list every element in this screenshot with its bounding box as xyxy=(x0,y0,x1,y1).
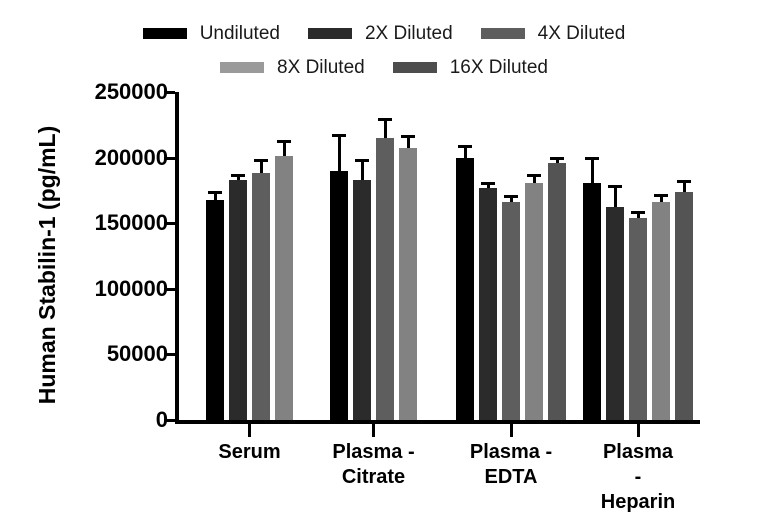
error-bar xyxy=(237,177,240,180)
error-bar-cap xyxy=(254,159,268,162)
error-bar-cap xyxy=(608,185,622,188)
x-axis-group-label: Plasma - Heparin xyxy=(601,440,675,515)
bar xyxy=(456,158,474,420)
y-axis-tick-label: 200000 xyxy=(95,147,168,169)
error-bar-cap xyxy=(277,140,291,143)
error-bar-cap xyxy=(231,174,245,177)
x-axis-group-label: Plasma - EDTA xyxy=(470,440,552,490)
error-bar-cap xyxy=(631,211,645,214)
error-bar-cap xyxy=(458,145,472,148)
legend-label: 8X Diluted xyxy=(277,58,365,77)
bar xyxy=(330,171,348,420)
legend-label: 16X Diluted xyxy=(450,58,548,77)
error-bar xyxy=(591,160,594,182)
error-bar xyxy=(407,138,410,148)
legend-item[interactable]: 16X Diluted xyxy=(393,58,548,77)
error-bar xyxy=(510,198,513,202)
error-bar xyxy=(487,185,490,188)
plot-area: 050000100000150000200000250000 SerumPlas… xyxy=(175,92,700,420)
error-bar-cap xyxy=(332,134,346,137)
error-bar xyxy=(260,162,263,174)
legend-swatch-icon xyxy=(220,62,264,73)
bar xyxy=(376,138,394,420)
bar xyxy=(652,202,670,420)
error-bar-cap xyxy=(208,191,222,194)
error-bar xyxy=(464,148,467,157)
error-bar xyxy=(214,194,217,199)
error-bar xyxy=(614,188,617,208)
x-axis-group-label: Plasma - Citrate xyxy=(332,440,414,490)
bar xyxy=(399,148,417,420)
x-axis-line xyxy=(175,420,700,424)
bar xyxy=(252,173,270,420)
x-axis-tick xyxy=(637,424,640,437)
legend-item[interactable]: Undiluted xyxy=(143,24,280,43)
error-bar xyxy=(283,143,286,156)
bar xyxy=(353,180,371,420)
legend-item[interactable]: 8X Diluted xyxy=(220,58,365,77)
x-axis-tick xyxy=(248,424,251,437)
bar xyxy=(206,200,224,420)
y-axis-tick-label: 100000 xyxy=(95,278,168,300)
bar xyxy=(502,202,520,420)
bar xyxy=(606,207,624,420)
legend-swatch-icon xyxy=(481,28,525,39)
y-axis-tick-label: 0 xyxy=(156,409,168,431)
bar-chart: Undiluted2X Diluted4X Diluted8X Diluted1… xyxy=(0,0,768,530)
error-bar xyxy=(384,121,387,138)
error-bar xyxy=(556,160,559,163)
legend-label: 4X Diluted xyxy=(538,24,626,43)
error-bar-cap xyxy=(654,194,668,197)
error-bar-cap xyxy=(677,180,691,183)
bar xyxy=(548,163,566,420)
error-bar xyxy=(361,162,364,180)
bar xyxy=(525,183,543,420)
y-axis-tick-label: 150000 xyxy=(95,212,168,234)
error-bar-cap xyxy=(401,135,415,138)
legend-swatch-icon xyxy=(308,28,352,39)
chart-legend: Undiluted2X Diluted4X Diluted8X Diluted1… xyxy=(0,16,768,84)
y-axis-line xyxy=(175,92,179,421)
bar xyxy=(629,218,647,420)
error-bar xyxy=(637,214,640,218)
legend-item[interactable]: 4X Diluted xyxy=(481,24,626,43)
error-bar-cap xyxy=(585,157,599,160)
bar xyxy=(229,180,247,420)
error-bar-cap xyxy=(481,182,495,185)
legend-label: 2X Diluted xyxy=(365,24,453,43)
legend-item[interactable]: 2X Diluted xyxy=(308,24,453,43)
legend-swatch-icon xyxy=(393,62,437,73)
error-bar-cap xyxy=(527,174,541,177)
bar xyxy=(479,188,497,420)
error-bar-cap xyxy=(550,157,564,160)
error-bar-cap xyxy=(355,159,369,162)
bar xyxy=(583,183,601,420)
error-bar xyxy=(338,137,341,171)
error-bar xyxy=(660,197,663,202)
x-axis-group-label: Serum xyxy=(218,440,280,465)
bar xyxy=(675,192,693,420)
error-bar xyxy=(683,183,686,192)
x-axis-tick xyxy=(372,424,375,437)
error-bar-cap xyxy=(504,195,518,198)
error-bar xyxy=(533,177,536,182)
x-axis-tick xyxy=(510,424,513,437)
legend-label: Undiluted xyxy=(200,24,280,43)
y-axis-tick-label: 250000 xyxy=(95,81,168,103)
legend-row: Undiluted2X Diluted4X Diluted xyxy=(0,16,768,50)
y-axis-tick-label: 50000 xyxy=(107,343,168,365)
error-bar-cap xyxy=(378,118,392,121)
y-axis-title: Human Stabilin-1 (pg/mL) xyxy=(26,0,68,530)
bar xyxy=(275,156,293,420)
legend-swatch-icon xyxy=(143,28,187,39)
